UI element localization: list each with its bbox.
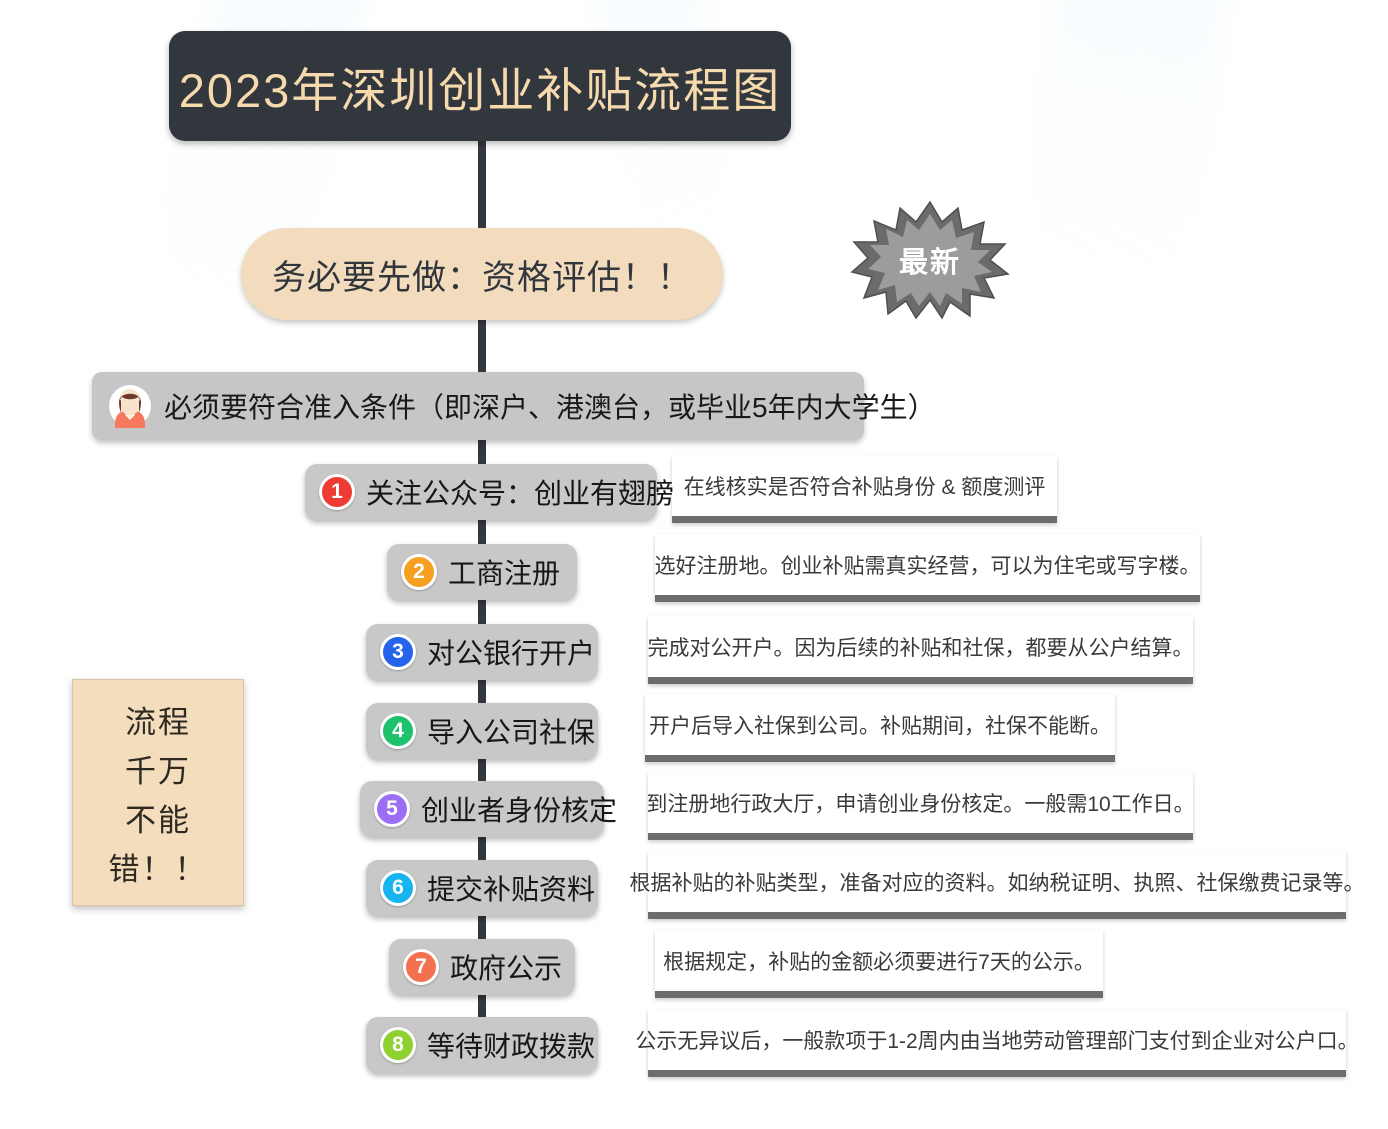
step-item-1[interactable]: 1关注公众号：创业有翅膀 bbox=[305, 464, 657, 520]
step-number-badge-2: 2 bbox=[401, 554, 437, 590]
step-label: 工商注册 bbox=[448, 552, 560, 592]
step-item-6[interactable]: 6提交补贴资料 bbox=[366, 860, 598, 916]
step-label: 对公银行开户 bbox=[427, 632, 595, 672]
warning-card: 流程 千万 不能 错！！ bbox=[72, 679, 244, 906]
connector-line-title-to-pill bbox=[478, 138, 486, 233]
step-label: 提交补贴资料 bbox=[427, 868, 595, 908]
step-item-3[interactable]: 3对公银行开户 bbox=[366, 624, 598, 680]
warning-line: 流程 bbox=[125, 697, 191, 742]
step-number-badge-5: 5 bbox=[374, 791, 410, 827]
connector-line-pill-to-eligibility bbox=[478, 316, 486, 378]
step-number-badge-1: 1 bbox=[319, 474, 355, 510]
step-item-7[interactable]: 7政府公示 bbox=[389, 939, 575, 995]
step-label: 创业者身份核定 bbox=[421, 789, 617, 829]
step-note-text: 到注册地行政大厅，申请创业身份核定。一般需10工作日。 bbox=[632, 788, 1208, 818]
step-item-4[interactable]: 4导入公司社保 bbox=[366, 703, 598, 759]
warning-line: 不能 bbox=[125, 795, 191, 840]
step-label: 关注公众号：创业有翅膀 bbox=[366, 472, 674, 512]
watermark: @创业有翅膀 bbox=[1101, 163, 1291, 292]
latest-badge: 最新 bbox=[850, 200, 1010, 320]
warning-line: 错！！ bbox=[109, 844, 208, 889]
step-number-badge-3: 3 bbox=[380, 634, 416, 670]
step-number-badge-8: 8 bbox=[380, 1027, 416, 1063]
step-note-1: 在线核实是否符合补贴身份 & 额度测评 bbox=[672, 455, 1057, 523]
step-item-2[interactable]: 2工商注册 bbox=[387, 544, 577, 600]
chart-title: 2023年深圳创业补贴流程图 bbox=[169, 31, 791, 141]
step-label: 导入公司社保 bbox=[427, 711, 595, 751]
step-note-5: 到注册地行政大厅，申请创业身份核定。一般需10工作日。 bbox=[648, 772, 1193, 840]
step-number-badge-4: 4 bbox=[380, 713, 416, 749]
step-note-8: 公示无异议后，一般款项于1-2周内由当地劳动管理部门支付到企业对公户口。 bbox=[648, 1009, 1346, 1077]
step-note-text: 根据规定，补贴的金额必须要进行7天的公示。 bbox=[649, 946, 1109, 976]
prerequisite-pill: 务必要先做：资格评估！！ bbox=[241, 228, 723, 320]
step-number-badge-6: 6 bbox=[380, 870, 416, 906]
step-item-8[interactable]: 8等待财政拨款 bbox=[366, 1017, 598, 1073]
step-item-5[interactable]: 5创业者身份核定 bbox=[360, 781, 604, 837]
step-label: 等待财政拨款 bbox=[427, 1025, 595, 1065]
step-note-text: 根据补贴的补贴类型，准备对应的资料。如纳税证明、执照、社保缴费记录等。 bbox=[616, 867, 1379, 897]
step-note-3: 完成对公开户。因为后续的补贴和社保，都要从公户结算。 bbox=[648, 616, 1193, 684]
latest-badge-text: 最新 bbox=[850, 200, 1010, 320]
eligibility-text: 必须要符合准入条件（即深户、港澳台，或毕业5年内大学生） bbox=[164, 386, 936, 426]
flowchart-canvas: @创业有翅膀 @创业有翅膀 @创业有翅膀 @创业有翅膀 @创业有翅膀 2023年… bbox=[0, 0, 1388, 1129]
step-note-text: 选好注册地。创业补贴需真实经营，可以为住宅或写字楼。 bbox=[641, 550, 1215, 580]
female-avatar-icon bbox=[108, 384, 152, 428]
warning-line: 千万 bbox=[125, 746, 191, 791]
step-note-text: 公示无异议后，一般款项于1-2周内由当地劳动管理部门支付到企业对公户口。 bbox=[621, 1025, 1372, 1055]
chart-title-text: 2023年深圳创业补贴流程图 bbox=[179, 52, 782, 121]
prerequisite-pill-text: 务必要先做：资格评估！！ bbox=[272, 250, 692, 299]
step-note-6: 根据补贴的补贴类型，准备对应的资料。如纳税证明、执照、社保缴费记录等。 bbox=[648, 851, 1346, 919]
step-note-2: 选好注册地。创业补贴需真实经营，可以为住宅或写字楼。 bbox=[655, 534, 1200, 602]
step-note-text: 在线核实是否符合补贴身份 & 额度测评 bbox=[670, 471, 1060, 501]
step-number-badge-7: 7 bbox=[403, 949, 439, 985]
step-note-text: 完成对公开户。因为后续的补贴和社保，都要从公户结算。 bbox=[634, 632, 1208, 662]
step-note-text: 开户后导入社保到公司。补贴期间，社保不能断。 bbox=[635, 710, 1125, 740]
step-note-4: 开户后导入社保到公司。补贴期间，社保不能断。 bbox=[645, 694, 1115, 762]
eligibility-bar: 必须要符合准入条件（即深户、港澳台，或毕业5年内大学生） bbox=[92, 372, 864, 440]
step-note-7: 根据规定，补贴的金额必须要进行7天的公示。 bbox=[655, 930, 1103, 998]
step-label: 政府公示 bbox=[450, 947, 562, 987]
light-streak-3 bbox=[1018, 0, 1232, 290]
